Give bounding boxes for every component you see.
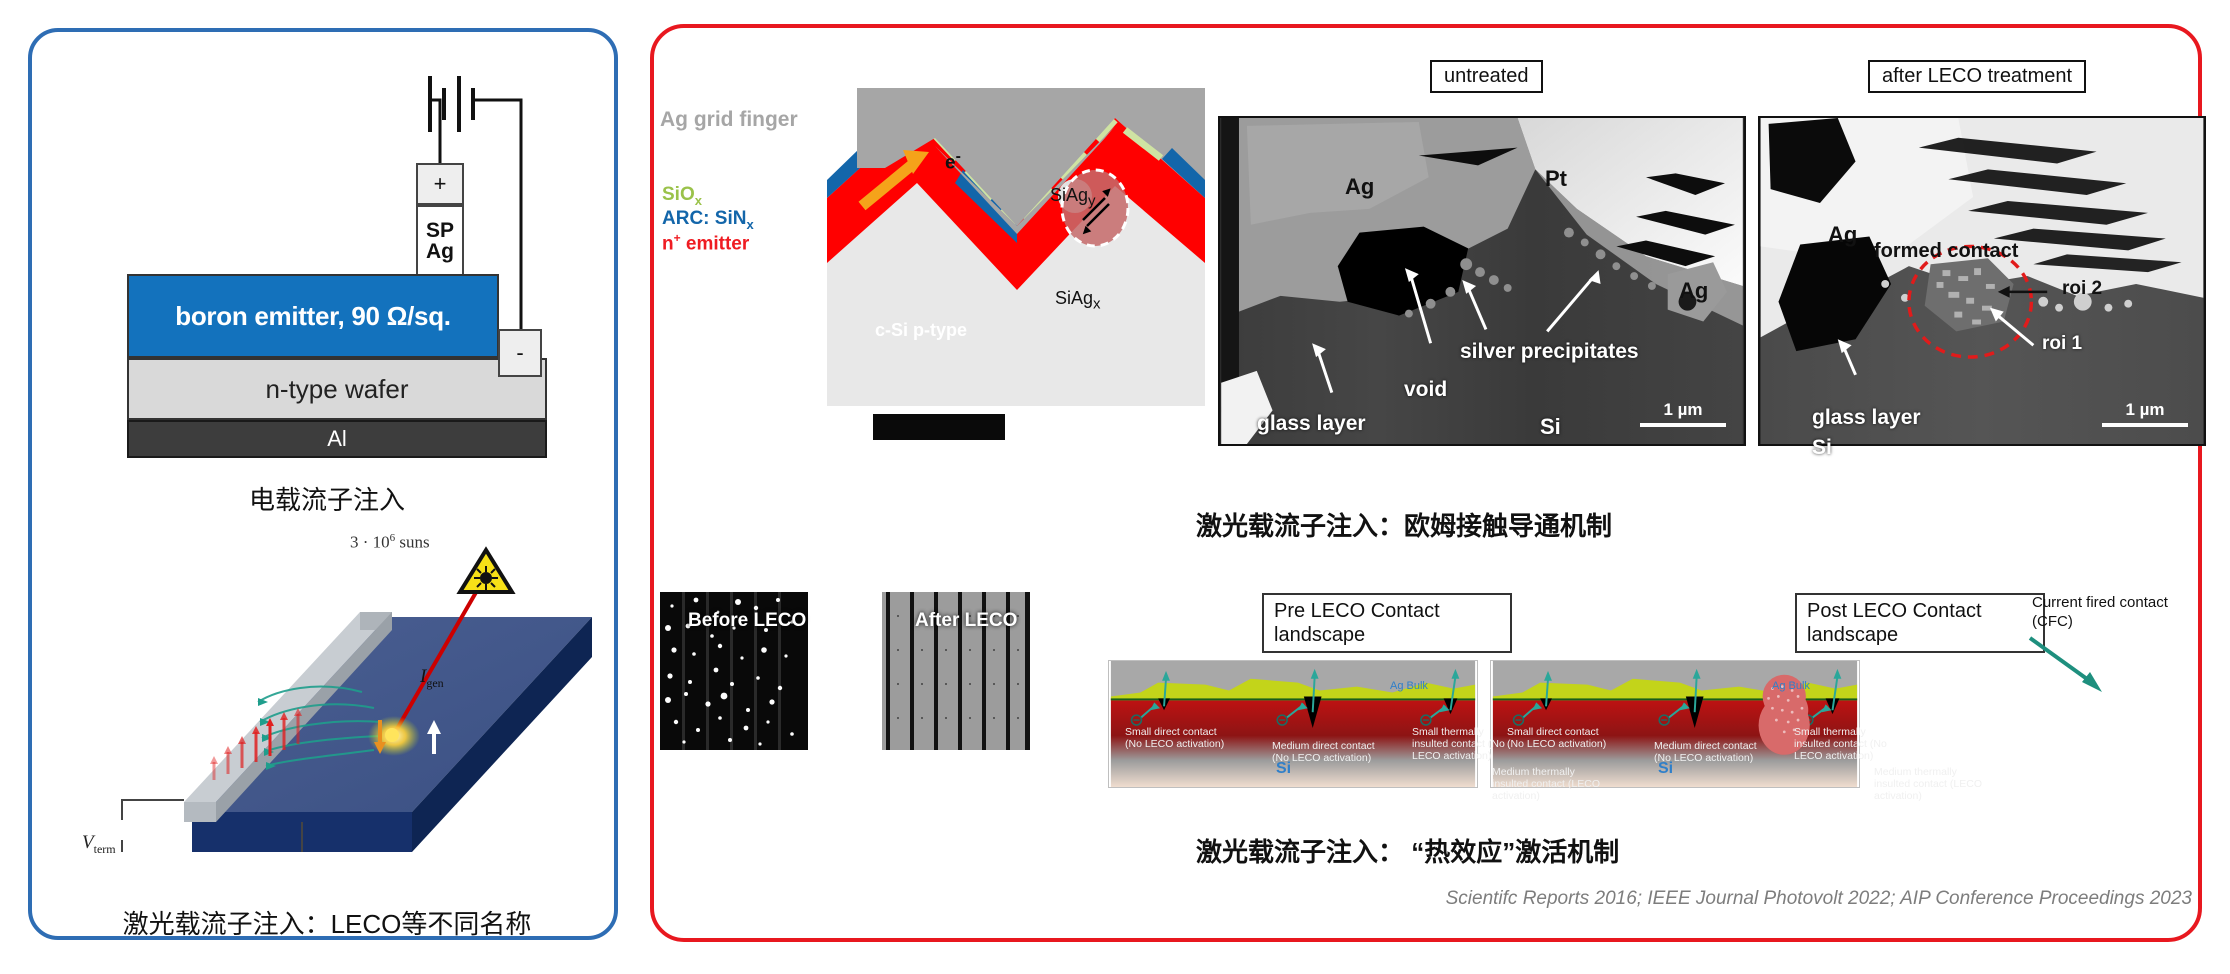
legend-n-plus-emitter: n+ emitter (662, 231, 749, 255)
scalebar-line (2102, 423, 2188, 427)
caption-carrier-injection: 电载流子注入 (32, 480, 622, 517)
post-note-small-direct: Small direct contact (No LECO activation… (1507, 726, 1606, 750)
i-gen-label: Igen (420, 666, 444, 691)
caption-leco-names: 激光载流子注入：LECO等不同名称 (32, 904, 622, 941)
figure-root: + SP Ag - boron emitter, 90 Ω/sq. n-type… (0, 0, 2230, 974)
aluminium-label: Al (327, 426, 347, 452)
post-leco-landscape-title: Post LECO Contact landscape (1795, 593, 2045, 653)
v-term-label: Vterm (82, 832, 116, 857)
citation-line: Scientifc Reports 2016; IEEE Journal Pho… (1372, 888, 2192, 910)
caption-ohmic-contact-mechanism: 激光载流子注入：欧姆接触导通机制 (1196, 506, 1612, 543)
pre-note-medium-thermal: Medium thermally insulted contact (LECO … (1492, 766, 1610, 802)
sem-untreated-image (1218, 116, 1746, 446)
ag-label: Ag (426, 241, 454, 262)
legend-ag-grid-finger: Ag grid finger (660, 108, 798, 132)
scalebar-line (1640, 423, 1726, 427)
sp-label: SP (426, 220, 454, 241)
pre-note-small-thermal: Small thermally insulted contact (No LEC… (1412, 726, 1505, 762)
negative-electrode: - (498, 329, 542, 377)
laser-intensity-label: 3 · 106 suns (350, 532, 430, 553)
legend-siox: SiOx (662, 184, 702, 208)
positive-electrode: + (416, 163, 464, 205)
post-note-medium-direct: Medium direct contact (No LECO activatio… (1654, 740, 1757, 764)
sem-untreated-scalebar: 1 µm (1640, 400, 1726, 427)
left-panel: + SP Ag - boron emitter, 90 Ω/sq. n-type… (28, 28, 618, 940)
electron-label: e- (945, 148, 961, 174)
pre-note-medium-direct: Medium direct contact (No LECO activatio… (1272, 740, 1375, 764)
post-note-small-thermal: Small thermally insulted contact (No LEC… (1794, 726, 1887, 762)
post-ag-bulk-label: Ag Bulk (1772, 680, 1810, 692)
caption-thermal-activation-mechanism: 激光载流子注入： “热效应”激活机制 (1196, 832, 1619, 869)
sem-untreated-title: untreated (1430, 60, 1543, 93)
post-note-medium-thermal: Medium thermally insulted contact (LECO … (1874, 766, 1992, 802)
boron-emitter-layer: boron emitter, 90 Ω/sq. (127, 274, 499, 358)
boron-emitter-label: boron emitter, 90 Ω/sq. (175, 301, 450, 332)
sem-after-image (1758, 116, 2206, 446)
laser-hazard-icon (460, 550, 512, 592)
n-type-wafer-label: n-type wafer (265, 374, 408, 405)
wafer-3d-illustration (62, 522, 592, 852)
el-before-label: Before LECO (688, 610, 806, 632)
pre-leco-landscape-title: Pre LECO Contact landscape (1262, 593, 1512, 653)
siag-y-label: SiAgy (1050, 185, 1096, 210)
cfc-callout-label: Current fired contact (CFC) (2032, 594, 2182, 632)
pre-ag-bulk-label: Ag Bulk (1390, 680, 1428, 692)
sem-after-title: after LECO treatment (1868, 60, 2086, 93)
negative-electrode-label: - (516, 340, 523, 366)
el-after-label: After LECO (915, 610, 1017, 632)
positive-electrode-label: + (434, 171, 447, 197)
siag-x-label: SiAgx (1055, 288, 1101, 313)
n-type-wafer-layer: n-type wafer (127, 358, 547, 420)
c-si-p-type-label: c-Si p-type (875, 320, 967, 341)
sem-after-scalebar: 1 µm (2102, 400, 2188, 427)
aluminium-layer: Al (127, 420, 547, 458)
screen-printed-ag-contact: SP Ag (416, 205, 464, 277)
legend-arc-sinx: ARC: SiNx (662, 208, 754, 232)
pre-note-small-direct: Small direct contact (No LECO activation… (1125, 726, 1224, 750)
